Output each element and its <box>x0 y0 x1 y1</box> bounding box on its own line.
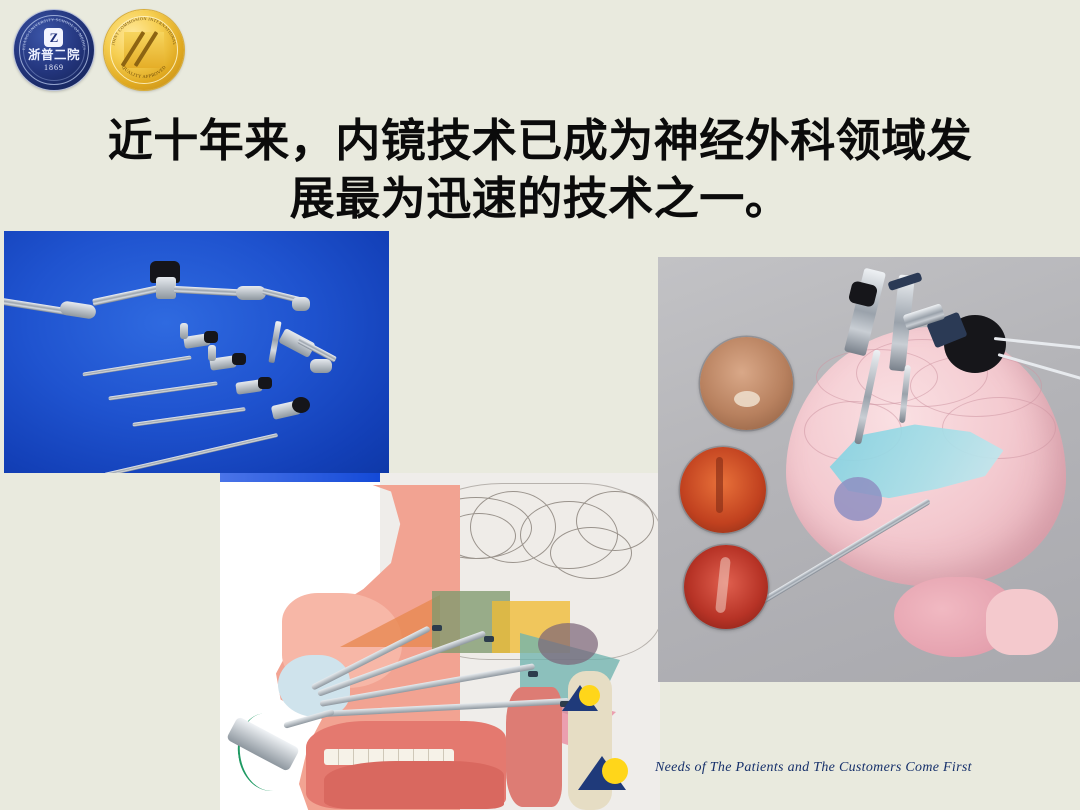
title-line-1: 近十年来，内镜技术已成为神经外科领域发 <box>108 114 973 167</box>
image-brain-endoscopy <box>658 257 1080 682</box>
watermark-logo <box>562 681 602 713</box>
instrument-port <box>208 345 216 361</box>
seal-monogram: Z <box>44 28 63 47</box>
circle-icon <box>579 685 600 706</box>
endoscopic-view-inset <box>680 447 766 533</box>
image-instruments <box>4 231 389 473</box>
diagram-banner <box>220 473 393 482</box>
jci-arc-text: JOINT COMMISSION INTERNATIONAL QUALITY A… <box>104 10 184 90</box>
brainstem <box>986 589 1058 655</box>
footer-slogan: Needs of The Patients and The Customers … <box>655 760 972 776</box>
tongue <box>324 761 504 809</box>
instrument-eyepiece <box>204 331 218 343</box>
endoscope-tip <box>484 636 494 642</box>
endoscopic-view-inset <box>700 337 793 430</box>
slide-canvas: ZHEJIANG UNIVERSITY SCHOOL OF MEDICINE Z… <box>0 0 1080 810</box>
logo-row: ZHEJIANG UNIVERSITY SCHOOL OF MEDICINE Z… <box>6 4 206 96</box>
instrument-tip <box>292 297 310 311</box>
instrument-hub <box>59 300 97 319</box>
title-line-2: 展最为迅速的技术之一。 <box>60 170 1020 228</box>
jci-arc-bottom-label: QUALITY APPROVED <box>121 64 167 79</box>
instrument-collar <box>156 277 176 299</box>
endoscope-tip <box>432 625 442 631</box>
circle-icon <box>602 758 628 784</box>
instrument-eyepiece <box>258 377 272 389</box>
instrument-shaft <box>104 433 278 473</box>
footer-logo <box>578 748 634 792</box>
instrument-shaft <box>82 355 191 376</box>
instrument-shaft <box>132 407 245 427</box>
instrument-tip <box>310 359 332 373</box>
instrument-shaft <box>108 381 217 400</box>
instrument-eyepiece <box>232 353 246 365</box>
instrument-eyepiece <box>292 397 310 413</box>
seal-chinese-name: 浙普二院 <box>28 49 80 62</box>
jci-badge-logo: JOINT COMMISSION INTERNATIONAL QUALITY A… <box>104 10 184 90</box>
instrument-port <box>180 323 188 339</box>
svg-text:QUALITY APPROVED: QUALITY APPROVED <box>121 64 167 79</box>
slide-title: 近十年来，内镜技术已成为神经外科领域发 展最为迅速的技术之一。 <box>60 112 1020 227</box>
endoscope-tip <box>528 671 538 677</box>
seal-year: 1869 <box>28 64 80 72</box>
light-cable <box>994 337 1080 350</box>
endoscopic-view-inset <box>684 545 768 629</box>
hospital-seal-logo: ZHEJIANG UNIVERSITY SCHOOL OF MEDICINE Z… <box>14 10 94 90</box>
jci-arc-top-label: JOINT COMMISSION INTERNATIONAL <box>110 16 177 46</box>
thalamus <box>834 477 882 521</box>
brain-model <box>786 327 1066 587</box>
seal-center: Z 浙普二院 1869 <box>28 28 80 73</box>
svg-text:JOINT COMMISSION INTERNATIONAL: JOINT COMMISSION INTERNATIONAL <box>110 16 177 46</box>
pituitary-region <box>538 623 598 665</box>
brain-gyri-line <box>576 491 654 551</box>
